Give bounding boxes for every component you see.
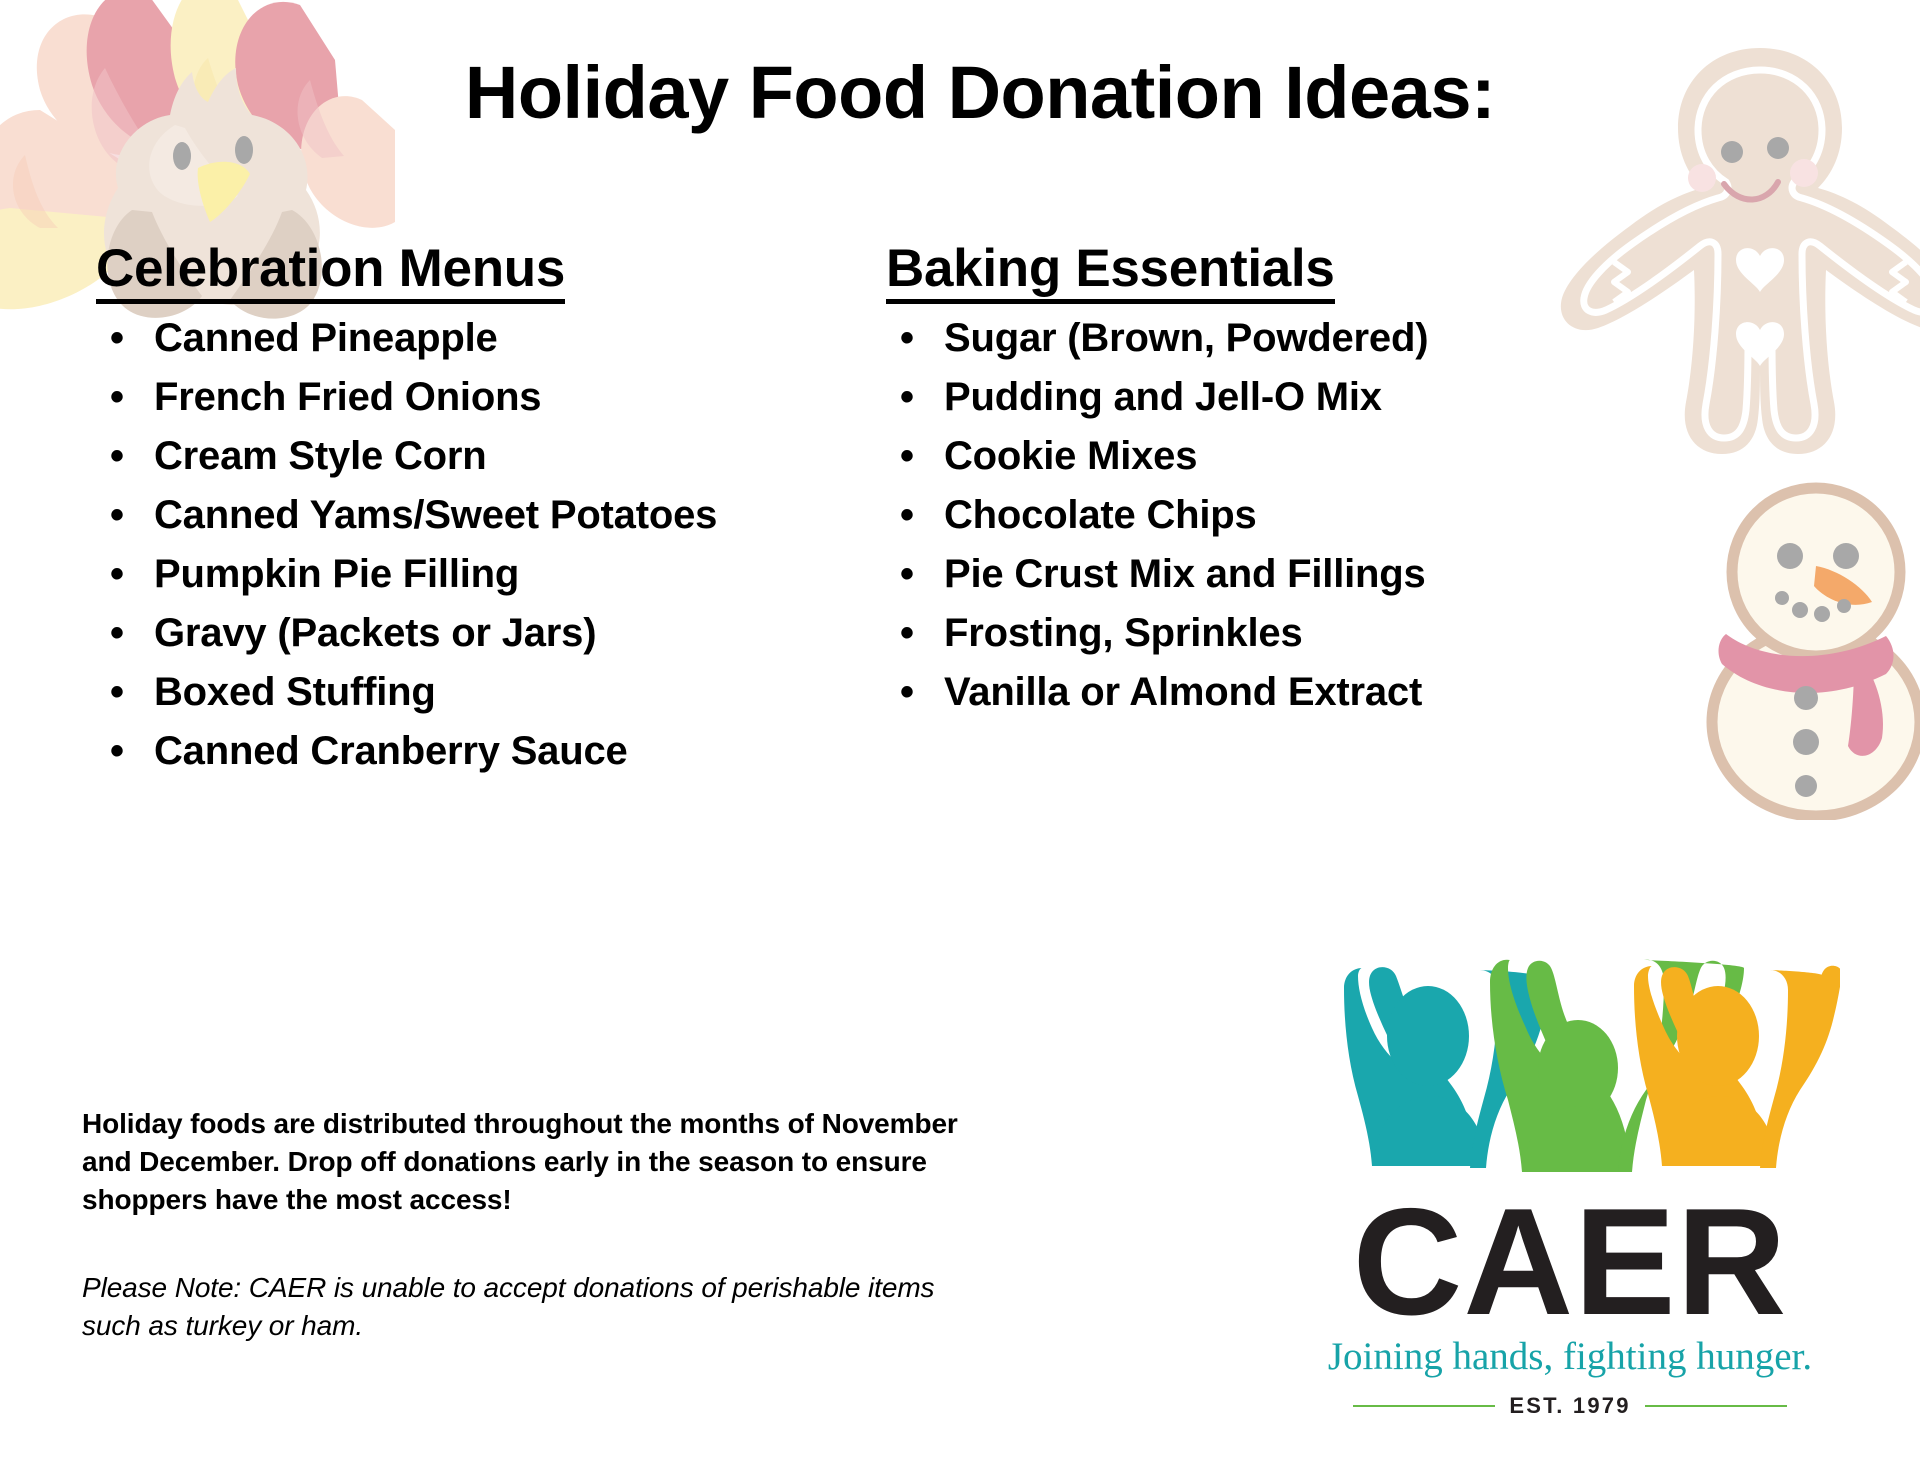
- page-title: Holiday Food Donation Ideas:: [0, 56, 1920, 130]
- list-item: •Canned Yams/Sweet Potatoes: [96, 495, 856, 535]
- list-item-label: Sugar (Brown, Powdered): [944, 316, 1428, 360]
- list-item-label: Gravy (Packets or Jars): [154, 611, 596, 655]
- list-item-label: Pie Crust Mix and Fillings: [944, 552, 1426, 596]
- list-item: •Pumpkin Pie Filling: [96, 554, 856, 594]
- list-item-label: Canned Pineapple: [154, 316, 498, 360]
- rule-right: [1645, 1405, 1787, 1407]
- list-item: •Chocolate Chips: [886, 495, 1586, 535]
- list-item: •Canned Pineapple: [96, 318, 856, 358]
- baking-essentials-heading: Baking Essentials: [886, 240, 1335, 304]
- bullet-icon: •: [110, 554, 124, 594]
- snowman-cookie-illustration: [1690, 470, 1920, 820]
- joining-hands-figures-icon: [1300, 950, 1840, 1200]
- list-item: •Cream Style Corn: [96, 436, 856, 476]
- bullet-icon: •: [110, 436, 124, 476]
- list-item-label: Pumpkin Pie Filling: [154, 552, 519, 596]
- bullet-icon: •: [900, 318, 914, 358]
- list-item: •Cookie Mixes: [886, 436, 1586, 476]
- distribution-note: Holiday foods are distributed throughout…: [82, 1105, 982, 1219]
- list-item-label: Canned Cranberry Sauce: [154, 729, 628, 773]
- logo-wordmark: CAER: [1300, 1196, 1840, 1330]
- bullet-icon: •: [110, 672, 124, 712]
- list-item-label: Chocolate Chips: [944, 493, 1257, 537]
- list-item: •Vanilla or Almond Extract: [886, 672, 1586, 712]
- bullet-icon: •: [110, 318, 124, 358]
- list-item-label: Boxed Stuffing: [154, 670, 436, 714]
- list-item: •Pie Crust Mix and Fillings: [886, 554, 1586, 594]
- list-item: •Frosting, Sprinkles: [886, 613, 1586, 653]
- rule-left: [1353, 1405, 1495, 1407]
- caer-logo: CAER Joining hands, fighting hunger. EST…: [1300, 950, 1840, 1419]
- list-item-label: Cookie Mixes: [944, 434, 1197, 478]
- logo-tagline: Joining hands, fighting hunger.: [1300, 1336, 1840, 1379]
- list-item: •Pudding and Jell-O Mix: [886, 377, 1586, 417]
- bullet-icon: •: [900, 495, 914, 535]
- list-item-label: Frosting, Sprinkles: [944, 611, 1303, 655]
- notes-block: Holiday foods are distributed throughout…: [82, 1105, 982, 1345]
- bullet-icon: •: [110, 613, 124, 653]
- bullet-icon: •: [900, 377, 914, 417]
- baking-essentials-list: •Sugar (Brown, Powdered) •Pudding and Je…: [886, 318, 1586, 712]
- list-item-label: French Fried Onions: [154, 375, 541, 419]
- bullet-icon: •: [110, 495, 124, 535]
- bullet-icon: •: [110, 377, 124, 417]
- bullet-icon: •: [900, 436, 914, 476]
- logo-established-row: EST. 1979: [1300, 1393, 1840, 1419]
- celebration-menus-heading: Celebration Menus: [96, 240, 565, 304]
- bullet-icon: •: [900, 613, 914, 653]
- list-item: •Canned Cranberry Sauce: [96, 731, 856, 771]
- list-item: •Gravy (Packets or Jars): [96, 613, 856, 653]
- celebration-menus-column: Celebration Menus •Canned Pineapple •Fre…: [96, 240, 856, 790]
- perishable-note: Please Note: CAER is unable to accept do…: [82, 1269, 982, 1345]
- list-item-label: Pudding and Jell-O Mix: [944, 375, 1382, 419]
- bullet-icon: •: [900, 554, 914, 594]
- list-item: •Sugar (Brown, Powdered): [886, 318, 1586, 358]
- celebration-menus-list: •Canned Pineapple •French Fried Onions •…: [96, 318, 856, 771]
- list-item-label: Cream Style Corn: [154, 434, 486, 478]
- bullet-icon: •: [110, 731, 124, 771]
- list-item: •French Fried Onions: [96, 377, 856, 417]
- bullet-icon: •: [900, 672, 914, 712]
- list-item: •Boxed Stuffing: [96, 672, 856, 712]
- list-item-label: Canned Yams/Sweet Potatoes: [154, 493, 717, 537]
- list-item-label: Vanilla or Almond Extract: [944, 670, 1422, 714]
- baking-essentials-column: Baking Essentials •Sugar (Brown, Powdere…: [886, 240, 1586, 731]
- logo-established-text: EST. 1979: [1509, 1393, 1630, 1419]
